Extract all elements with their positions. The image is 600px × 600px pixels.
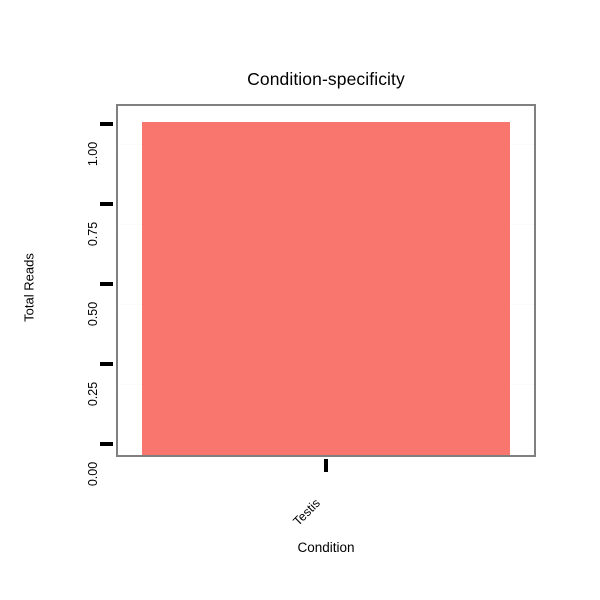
y-tick-mark-4 — [100, 122, 113, 126]
y-axis-title: Total Reads — [22, 228, 37, 348]
x-tick-mark-testis — [324, 459, 328, 472]
y-tick-mark-0 — [100, 442, 113, 446]
y-tick-label-3: 0.75 — [86, 204, 100, 264]
bar-testis[interactable] — [142, 122, 510, 455]
x-axis-title: Condition — [0, 540, 600, 555]
chart-root: Condition-specificity 0.00 0.25 0.50 0.7… — [0, 0, 600, 600]
y-tick-label-0: 0.00 — [86, 444, 100, 504]
plot-panel — [116, 104, 536, 457]
y-tick-label-2: 0.50 — [86, 284, 100, 344]
y-tick-label-4: 1.00 — [86, 124, 100, 184]
y-tick-mark-1 — [100, 362, 113, 366]
y-tick-label-1: 0.25 — [86, 364, 100, 424]
y-tick-mark-2 — [100, 282, 113, 286]
chart-title: Condition-specificity — [0, 69, 600, 90]
y-tick-mark-3 — [100, 202, 113, 206]
